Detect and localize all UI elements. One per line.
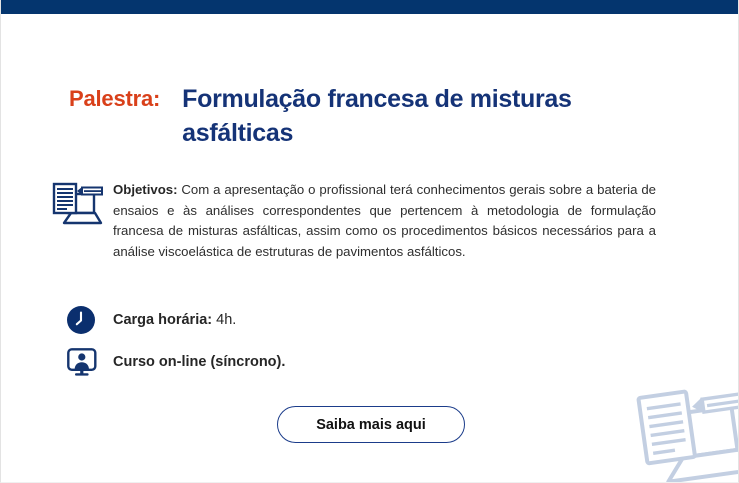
detail-row-workload: Carga horária: 4h. (67, 306, 236, 334)
objectives-text: Objetivos: Com a apresentação o profissi… (107, 180, 656, 262)
objectives-body: Com a apresentação o profissional terá c… (113, 182, 656, 259)
workload-label: Carga horária: (113, 312, 212, 328)
title-main: Formulação francesa de misturas asfáltic… (182, 82, 572, 150)
objectives-label: Objetivos: (113, 182, 177, 197)
watermark-laptop-document-pencil-icon (632, 382, 739, 483)
workload-value: 4h. (216, 312, 236, 328)
page-title: Palestra: Formulação francesa de mistura… (69, 82, 669, 150)
top-accent-bar (1, 0, 739, 14)
monitor-person-icon (67, 348, 103, 376)
modality-label: Curso on-line (síncrono). (113, 354, 285, 370)
detail-text-workload: Carga horária: 4h. (103, 312, 236, 328)
course-promo-card: Palestra: Formulação francesa de mistura… (0, 0, 739, 483)
saiba-mais-button[interactable]: Saiba mais aqui (277, 406, 465, 443)
laptop-document-pencil-icon (51, 180, 107, 231)
detail-text-modality: Curso on-line (síncrono). (103, 354, 285, 370)
objectives-section: Objetivos: Com a apresentação o profissi… (51, 180, 656, 262)
detail-row-modality: Curso on-line (síncrono). (67, 348, 285, 376)
title-kicker: Palestra: (69, 82, 182, 116)
clock-icon (67, 306, 103, 334)
